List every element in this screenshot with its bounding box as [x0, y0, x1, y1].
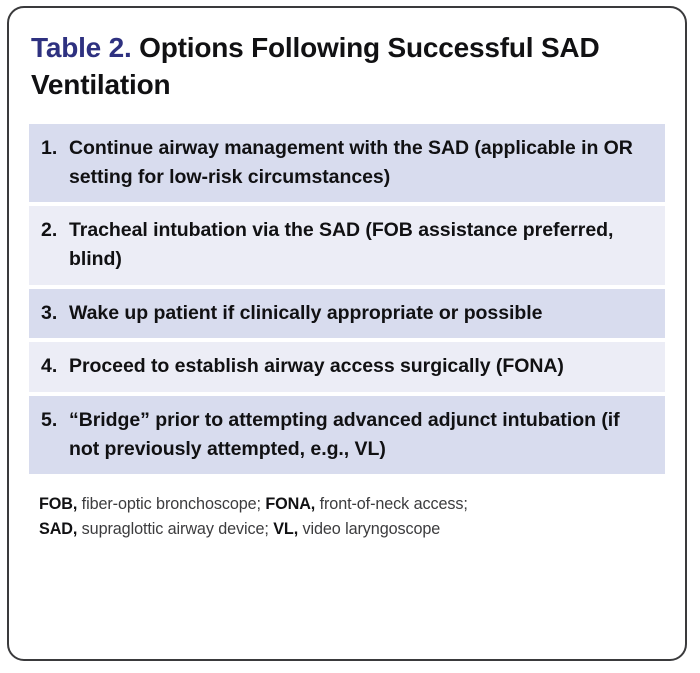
- table-number-label: Table 2.: [31, 32, 132, 63]
- footnote-def-vl: video laryngoscope: [298, 520, 440, 538]
- footnote-def-fob: fiber-optic bronchoscope;: [77, 495, 265, 513]
- list-item-number: 1.: [39, 134, 69, 163]
- table-card-inner: Table 2. Options Following Successful SA…: [9, 8, 685, 659]
- list-item-text: Wake up patient if clinically appropriat…: [69, 299, 651, 328]
- footnote-line-1: FOB, fiber-optic bronchoscope; FONA, fro…: [39, 495, 468, 513]
- options-list: 1. Continue airway management with the S…: [29, 124, 665, 474]
- table-card: Table 2. Options Following Successful SA…: [7, 6, 687, 661]
- page-title: Table 2. Options Following Successful SA…: [29, 30, 665, 104]
- footnote-abbr-sad: SAD,: [39, 520, 77, 538]
- list-item-number: 5.: [39, 406, 69, 435]
- list-item-text: “Bridge” prior to attempting advanced ad…: [69, 406, 651, 463]
- footnote-abbr-fona: FONA,: [265, 495, 315, 513]
- list-item: 1. Continue airway management with the S…: [29, 124, 665, 202]
- list-item-text: Continue airway management with the SAD …: [69, 134, 651, 191]
- list-item-text: Proceed to establish airway access surgi…: [69, 352, 651, 381]
- footnote-abbr-fob: FOB,: [39, 495, 77, 513]
- footnote-abbr-vl: VL,: [273, 520, 298, 538]
- list-item: 5. “Bridge” prior to attempting advanced…: [29, 396, 665, 474]
- footnote-line-2: SAD, supraglottic airway device; VL, vid…: [39, 520, 440, 538]
- list-item-number: 3.: [39, 299, 69, 328]
- list-item-number: 4.: [39, 352, 69, 381]
- list-item-text: Tracheal intubation via the SAD (FOB ass…: [69, 216, 651, 273]
- abbreviations-footnote: FOB, fiber-optic bronchoscope; FONA, fro…: [29, 492, 665, 541]
- list-item: 4. Proceed to establish airway access su…: [29, 342, 665, 392]
- footnote-def-sad: supraglottic airway device;: [77, 520, 273, 538]
- list-item: 3. Wake up patient if clinically appropr…: [29, 289, 665, 339]
- list-item: 2. Tracheal intubation via the SAD (FOB …: [29, 206, 665, 284]
- footnote-def-fona: front-of-neck access;: [315, 495, 468, 513]
- list-item-number: 2.: [39, 216, 69, 245]
